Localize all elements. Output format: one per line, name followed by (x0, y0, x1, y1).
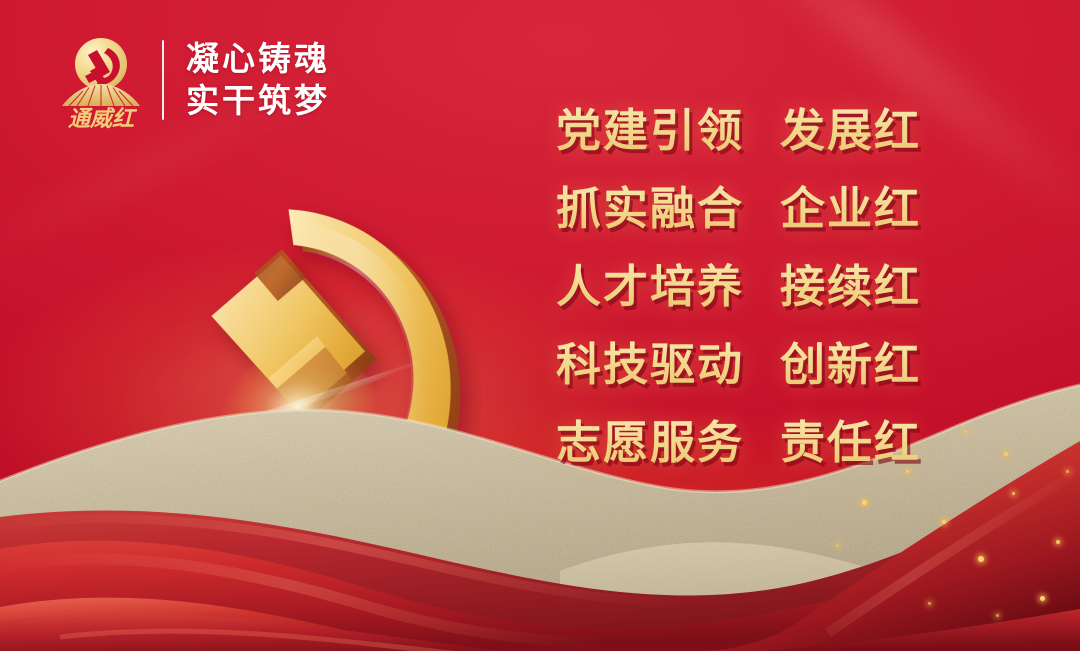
headline-right: 创新红 (780, 326, 921, 404)
logo-divider (162, 40, 164, 120)
headline-left: 科技驱动 (556, 326, 744, 404)
slogan-line-2: 实干筑梦 (186, 82, 330, 120)
headline-right: 发展红 (780, 92, 921, 170)
brand-script-text: 通威红 (68, 106, 138, 131)
headline-block: 党建引领 发展红 抓实融合 企业红 人才培养 接续红 科技驱动 创新红 志愿服务… (556, 92, 921, 482)
logo-lockup[interactable]: 通威红 凝心铸魂 实干筑梦 (52, 28, 330, 132)
headline-right: 接续红 (780, 248, 921, 326)
headline-left: 人才培养 (556, 248, 744, 326)
headline-left: 党建引领 (556, 92, 744, 170)
headline-row: 党建引领 发展红 (556, 92, 921, 170)
light-streak-icon (127, 272, 493, 405)
party-emblem-badge-logo[interactable]: 通威红 (52, 28, 150, 132)
slogan-block: 凝心铸魂 实干筑梦 (186, 40, 330, 121)
headline-row: 志愿服务 责任红 (556, 404, 921, 482)
headline-row: 科技驱动 创新红 (556, 326, 921, 404)
banner-canvas: 通威红 凝心铸魂 实干筑梦 党建引领 发展红 抓实融合 企业红 人才培养 接续红… (0, 0, 1080, 651)
slogan-line-1: 凝心铸魂 (186, 40, 330, 78)
headline-row: 人才培养 接续红 (556, 248, 921, 326)
party-emblem-sculpture (82, 196, 482, 586)
headline-right: 责任红 (780, 404, 921, 482)
headline-right: 企业红 (780, 170, 921, 248)
headline-left: 抓实融合 (556, 170, 744, 248)
headline-row: 抓实融合 企业红 (556, 170, 921, 248)
headline-left: 志愿服务 (556, 404, 744, 482)
